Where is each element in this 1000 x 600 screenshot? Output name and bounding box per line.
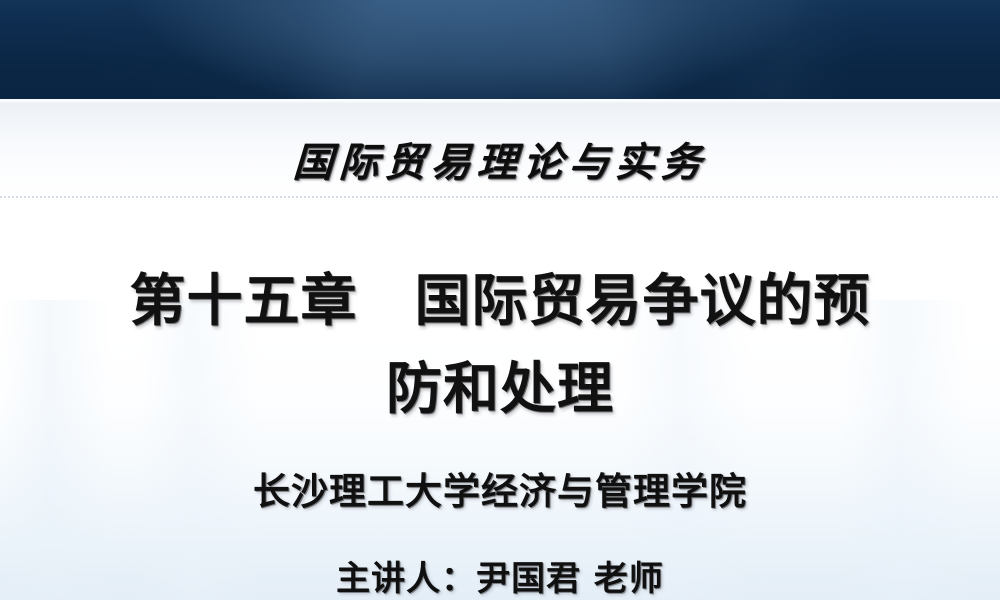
organization-name: 长沙理工大学经济与管理学院 — [0, 461, 1000, 515]
title-slide: 国际贸易理论与实务 第十五章 国际贸易争议的预 防和处理 长沙理工大学经济与管理… — [0, 0, 1000, 600]
chapter-title-line-1: 第十五章 国际贸易争议的预 — [40, 258, 960, 346]
chapter-title: 第十五章 国际贸易争议的预 防和处理 — [40, 258, 960, 435]
course-title: 国际贸易理论与实务 — [0, 141, 1000, 186]
chapter-title-line-2: 防和处理 — [40, 346, 960, 434]
presenter-name: 主讲人：尹国君 老师 — [0, 551, 1000, 600]
slide-text-layer: 国际贸易理论与实务 第十五章 国际贸易争议的预 防和处理 长沙理工大学经济与管理… — [0, 0, 1000, 600]
